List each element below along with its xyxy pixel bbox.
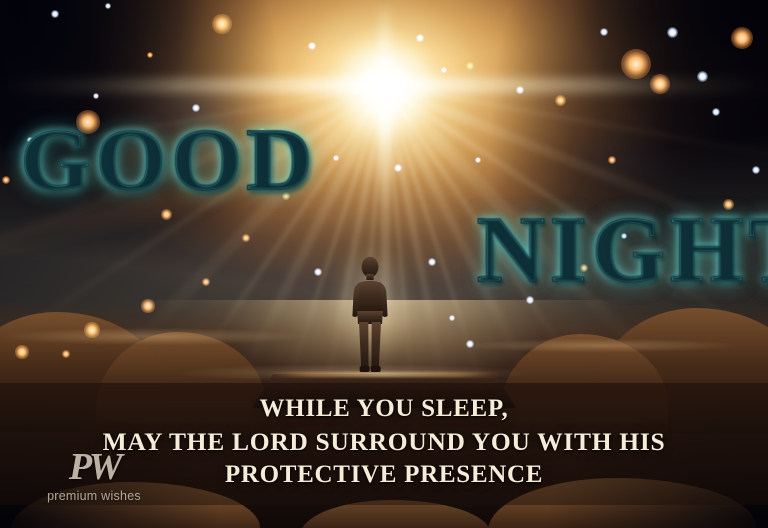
star-icon: [650, 74, 670, 94]
star-icon: [752, 166, 761, 175]
watermark: PW premium wishes: [38, 450, 150, 504]
star-icon: [475, 157, 482, 164]
star-icon: [84, 322, 99, 337]
star-icon: [712, 108, 721, 117]
greeting-card: GOOD NIGHT WHILE YOU SLEEP, MAY THE LORD…: [0, 0, 768, 528]
star-icon: [428, 258, 437, 267]
star-icon: [202, 278, 211, 287]
caption-line-1: WHILE YOU SLEEP,: [0, 392, 768, 425]
star-icon: [449, 315, 456, 322]
star-icon: [441, 67, 448, 74]
star-icon: [51, 10, 60, 19]
star-icon: [105, 3, 112, 10]
star-icon: [333, 155, 340, 162]
star-icon: [608, 156, 617, 165]
star-icon: [314, 268, 323, 277]
star-icon: [308, 42, 317, 51]
star-icon: [466, 62, 475, 71]
star-icon: [93, 93, 100, 100]
star-icon: [161, 209, 172, 220]
watermark-monogram-icon: PW: [38, 450, 150, 484]
star-icon: [600, 28, 609, 37]
star-icon: [394, 164, 403, 173]
star-icon: [242, 234, 251, 243]
star-icon: [141, 299, 154, 312]
star-icon: [555, 95, 566, 106]
star-icon: [621, 49, 652, 80]
star-icon: [516, 86, 525, 95]
star-icon: [667, 27, 678, 38]
star-icon: [731, 27, 753, 49]
star-icon: [212, 14, 232, 34]
watermark-brand-label: premium wishes: [38, 489, 150, 503]
star-icon: [416, 34, 425, 43]
star-icon: [697, 71, 708, 82]
star-icon: [62, 350, 71, 359]
star-icon: [15, 345, 28, 358]
star-icon: [466, 340, 475, 349]
star-icon: [2, 176, 11, 185]
headline-night: NIGHT: [477, 203, 768, 297]
star-icon: [147, 52, 154, 59]
headline-good: GOOD: [20, 117, 317, 205]
